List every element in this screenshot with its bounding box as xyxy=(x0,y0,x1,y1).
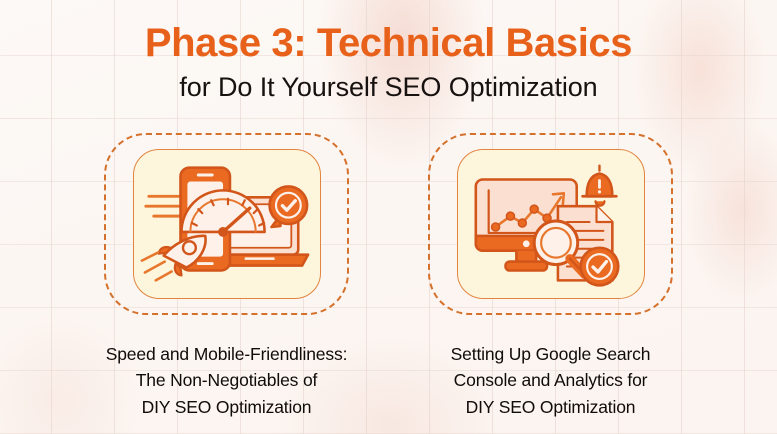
caption-line: Setting Up Google Search xyxy=(451,341,651,367)
icon-tile xyxy=(133,149,321,299)
dashed-frame xyxy=(104,133,349,315)
card-caption: Setting Up Google Search Console and Ana… xyxy=(451,341,651,420)
caption-line: Speed and Mobile-Friendliness: xyxy=(106,341,348,367)
page-title: Phase 3: Technical Basics xyxy=(0,22,777,65)
caption-line: The Non-Negotiables of xyxy=(106,367,348,393)
speed-lines xyxy=(145,196,181,216)
check-badge-icon xyxy=(580,248,618,286)
notification-bell-icon xyxy=(582,166,616,206)
card-speed-mobile-friendliness: Speed and Mobile-Friendliness: The Non-N… xyxy=(93,133,361,420)
card-search-console-analytics: Setting Up Google Search Console and Ana… xyxy=(417,133,685,420)
header: Phase 3: Technical Basics for Do It Your… xyxy=(0,0,777,102)
monitor-chart-document-magnifier-icon xyxy=(458,149,644,299)
caption-line: DIY SEO Optimization xyxy=(451,394,651,420)
icon-tile xyxy=(457,149,645,299)
dashed-frame xyxy=(428,133,673,315)
card-caption: Speed and Mobile-Friendliness: The Non-N… xyxy=(106,341,348,420)
card-row: Speed and Mobile-Friendliness: The Non-N… xyxy=(0,133,777,420)
check-speech-bubble-icon xyxy=(269,186,307,227)
caption-line: Console and Analytics for xyxy=(451,367,651,393)
caption-line: DIY SEO Optimization xyxy=(106,394,348,420)
rocket-phone-speedometer-laptop-icon xyxy=(134,149,320,299)
page-subtitle: for Do It Yourself SEO Optimization xyxy=(0,72,777,102)
rocket-icon xyxy=(141,236,205,281)
